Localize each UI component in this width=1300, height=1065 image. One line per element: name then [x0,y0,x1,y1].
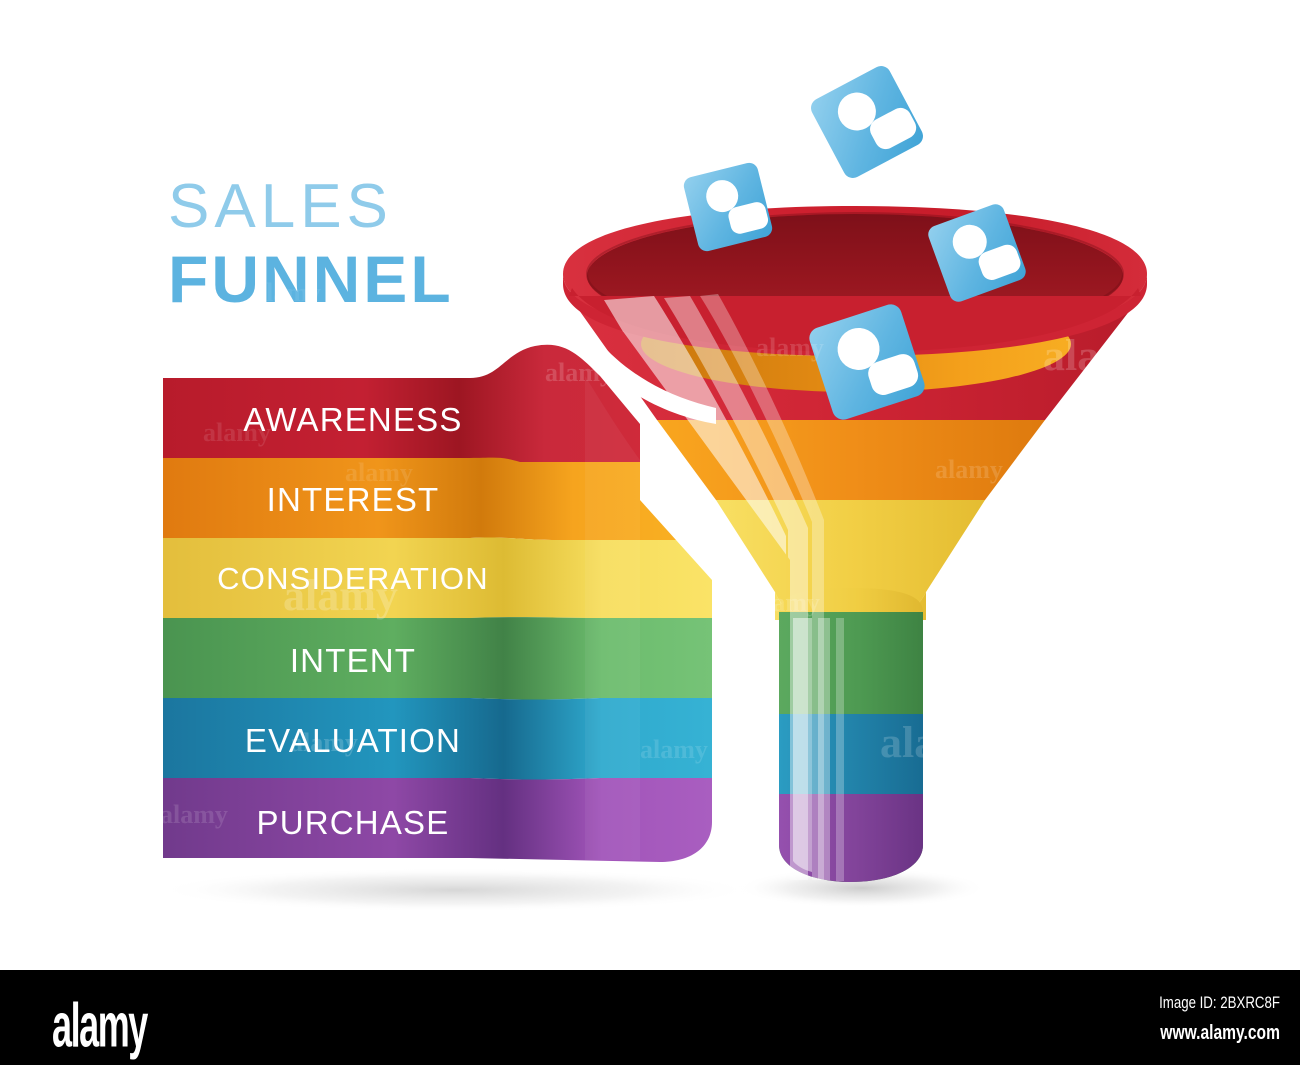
person-card-icon [807,62,926,181]
illustration-artboard: SALES FUNNEL AWARENESS INTEREST CONSIDER… [0,0,1300,960]
alamy-url-text: www.alamy.com [1159,1022,1280,1045]
sales-funnel-illustration [0,0,1300,960]
ribbon-band-awareness [163,345,640,462]
alamy-footer-bar: alamy Image ID: 2BXRC8F www.alamy.com [0,975,1300,1065]
alamy-logo: alamy [52,989,147,1062]
footer-meta: Image ID: 2BXRC8F www.alamy.com [1125,993,1280,1045]
ribbon-shadow [155,868,755,912]
screenshot-root: SALES FUNNEL AWARENESS INTEREST CONSIDER… [0,0,1300,1065]
image-id-text: Image ID: 2BXRC8F [1159,993,1280,1013]
